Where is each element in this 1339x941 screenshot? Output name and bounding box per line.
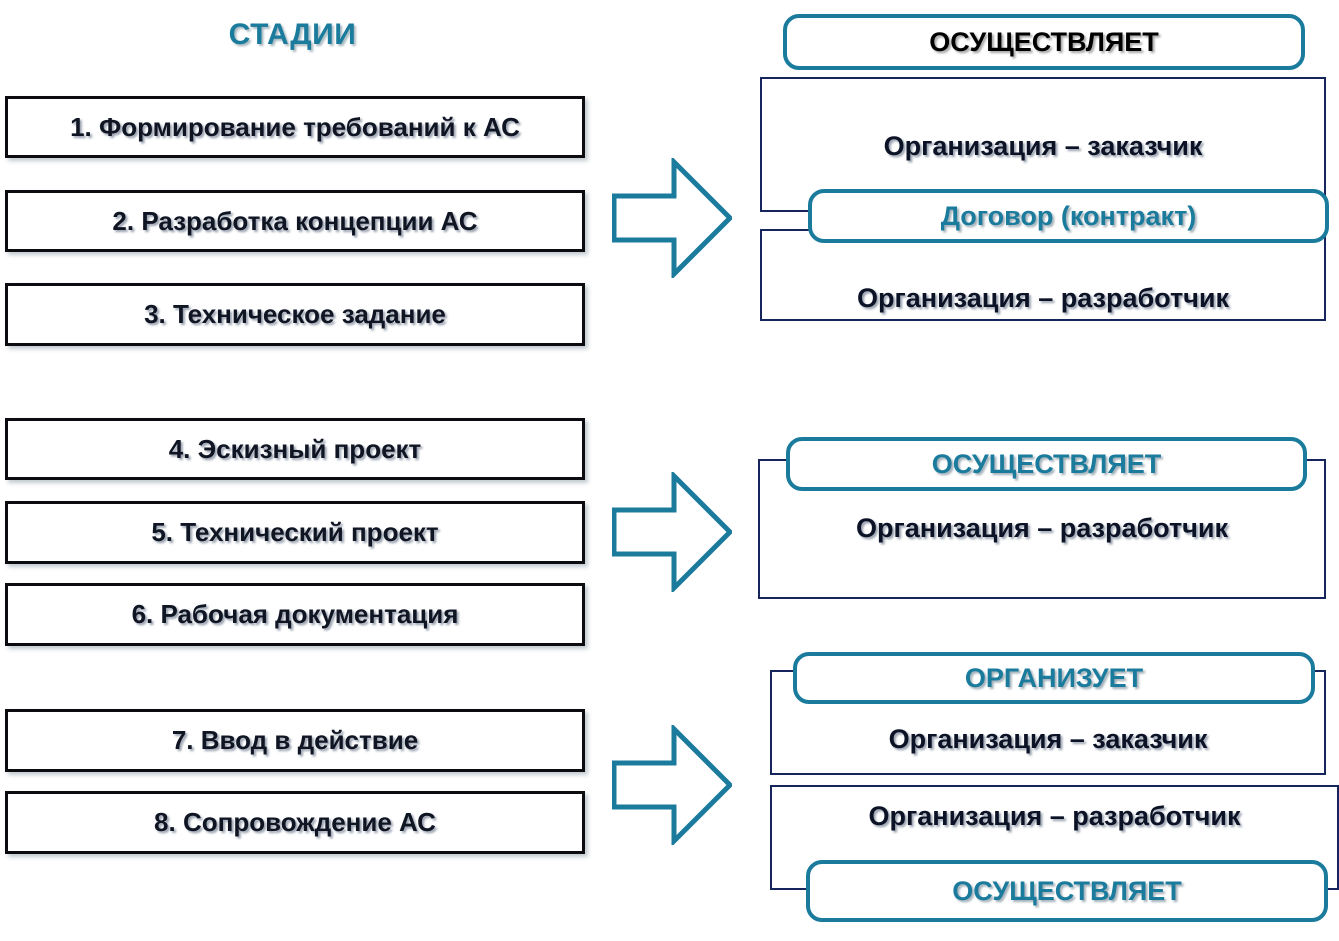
stage-box-8[interactable]: 8. Сопровождение АС <box>5 791 585 854</box>
stage-label-6: 6. Рабочая документация <box>132 599 459 630</box>
actor-label-developer-2: Организация – разработчик <box>856 513 1228 544</box>
right-block-arrow-icon <box>612 725 732 845</box>
relation-label-performs-3: ОСУЩЕСТВЛЯЕТ <box>952 876 1181 907</box>
stage-box-5[interactable]: 5. Технический проект <box>5 501 585 564</box>
stage-box-1[interactable]: 1. Формирование требований к АС <box>5 96 585 158</box>
stage-box-7[interactable]: 7. Ввод в действие <box>5 709 585 772</box>
relation-label-contract: Договор (контракт) <box>941 201 1197 232</box>
relation-label-performs-2: ОСУЩЕСТВЛЯЕТ <box>932 449 1161 480</box>
relation-label-performs-1: ОСУЩЕСТВЛЯЕТ <box>929 27 1158 58</box>
stage-box-2[interactable]: 2. Разработка концепции АС <box>5 190 585 252</box>
relation-pill-performs-2[interactable]: ОСУЩЕСТВЛЯЕТ <box>786 437 1307 491</box>
right-block-arrow-icon <box>612 472 732 592</box>
actor-label-customer-3: Организация – заказчик <box>889 724 1208 755</box>
stage-label-4: 4. Эскизный проект <box>169 434 422 465</box>
diagram-canvas: СТАДИИ 1. Формирование требований к АС 2… <box>0 0 1339 941</box>
stage-box-6[interactable]: 6. Рабочая документация <box>5 583 585 646</box>
actor-label-customer-1: Организация – заказчик <box>884 131 1203 162</box>
actor-label-developer-1: Организация – разработчик <box>857 283 1229 314</box>
stage-label-8: 8. Сопровождение АС <box>154 807 436 838</box>
stage-label-5: 5. Технический проект <box>151 517 438 548</box>
stage-label-7: 7. Ввод в действие <box>172 725 418 756</box>
stage-label-1: 1. Формирование требований к АС <box>70 112 520 143</box>
relation-pill-performs-3[interactable]: ОСУЩЕСТВЛЯЕТ <box>806 860 1328 922</box>
stage-box-3[interactable]: 3. Техническое задание <box>5 283 585 346</box>
page-title: СТАДИИ <box>0 18 585 52</box>
relation-pill-organizes[interactable]: ОРГАНИЗУЕТ <box>793 652 1315 704</box>
stage-label-2: 2. Разработка концепции АС <box>112 206 477 237</box>
relation-label-organizes: ОРГАНИЗУЕТ <box>965 663 1143 694</box>
relation-pill-contract[interactable]: Договор (контракт) <box>808 189 1329 243</box>
relation-pill-performs-1[interactable]: ОСУЩЕСТВЛЯЕТ <box>783 14 1305 70</box>
stage-box-4[interactable]: 4. Эскизный проект <box>5 418 585 480</box>
actor-label-developer-3: Организация – разработчик <box>869 801 1241 832</box>
stage-label-3: 3. Техническое задание <box>144 299 446 330</box>
right-block-arrow-icon <box>612 158 732 278</box>
